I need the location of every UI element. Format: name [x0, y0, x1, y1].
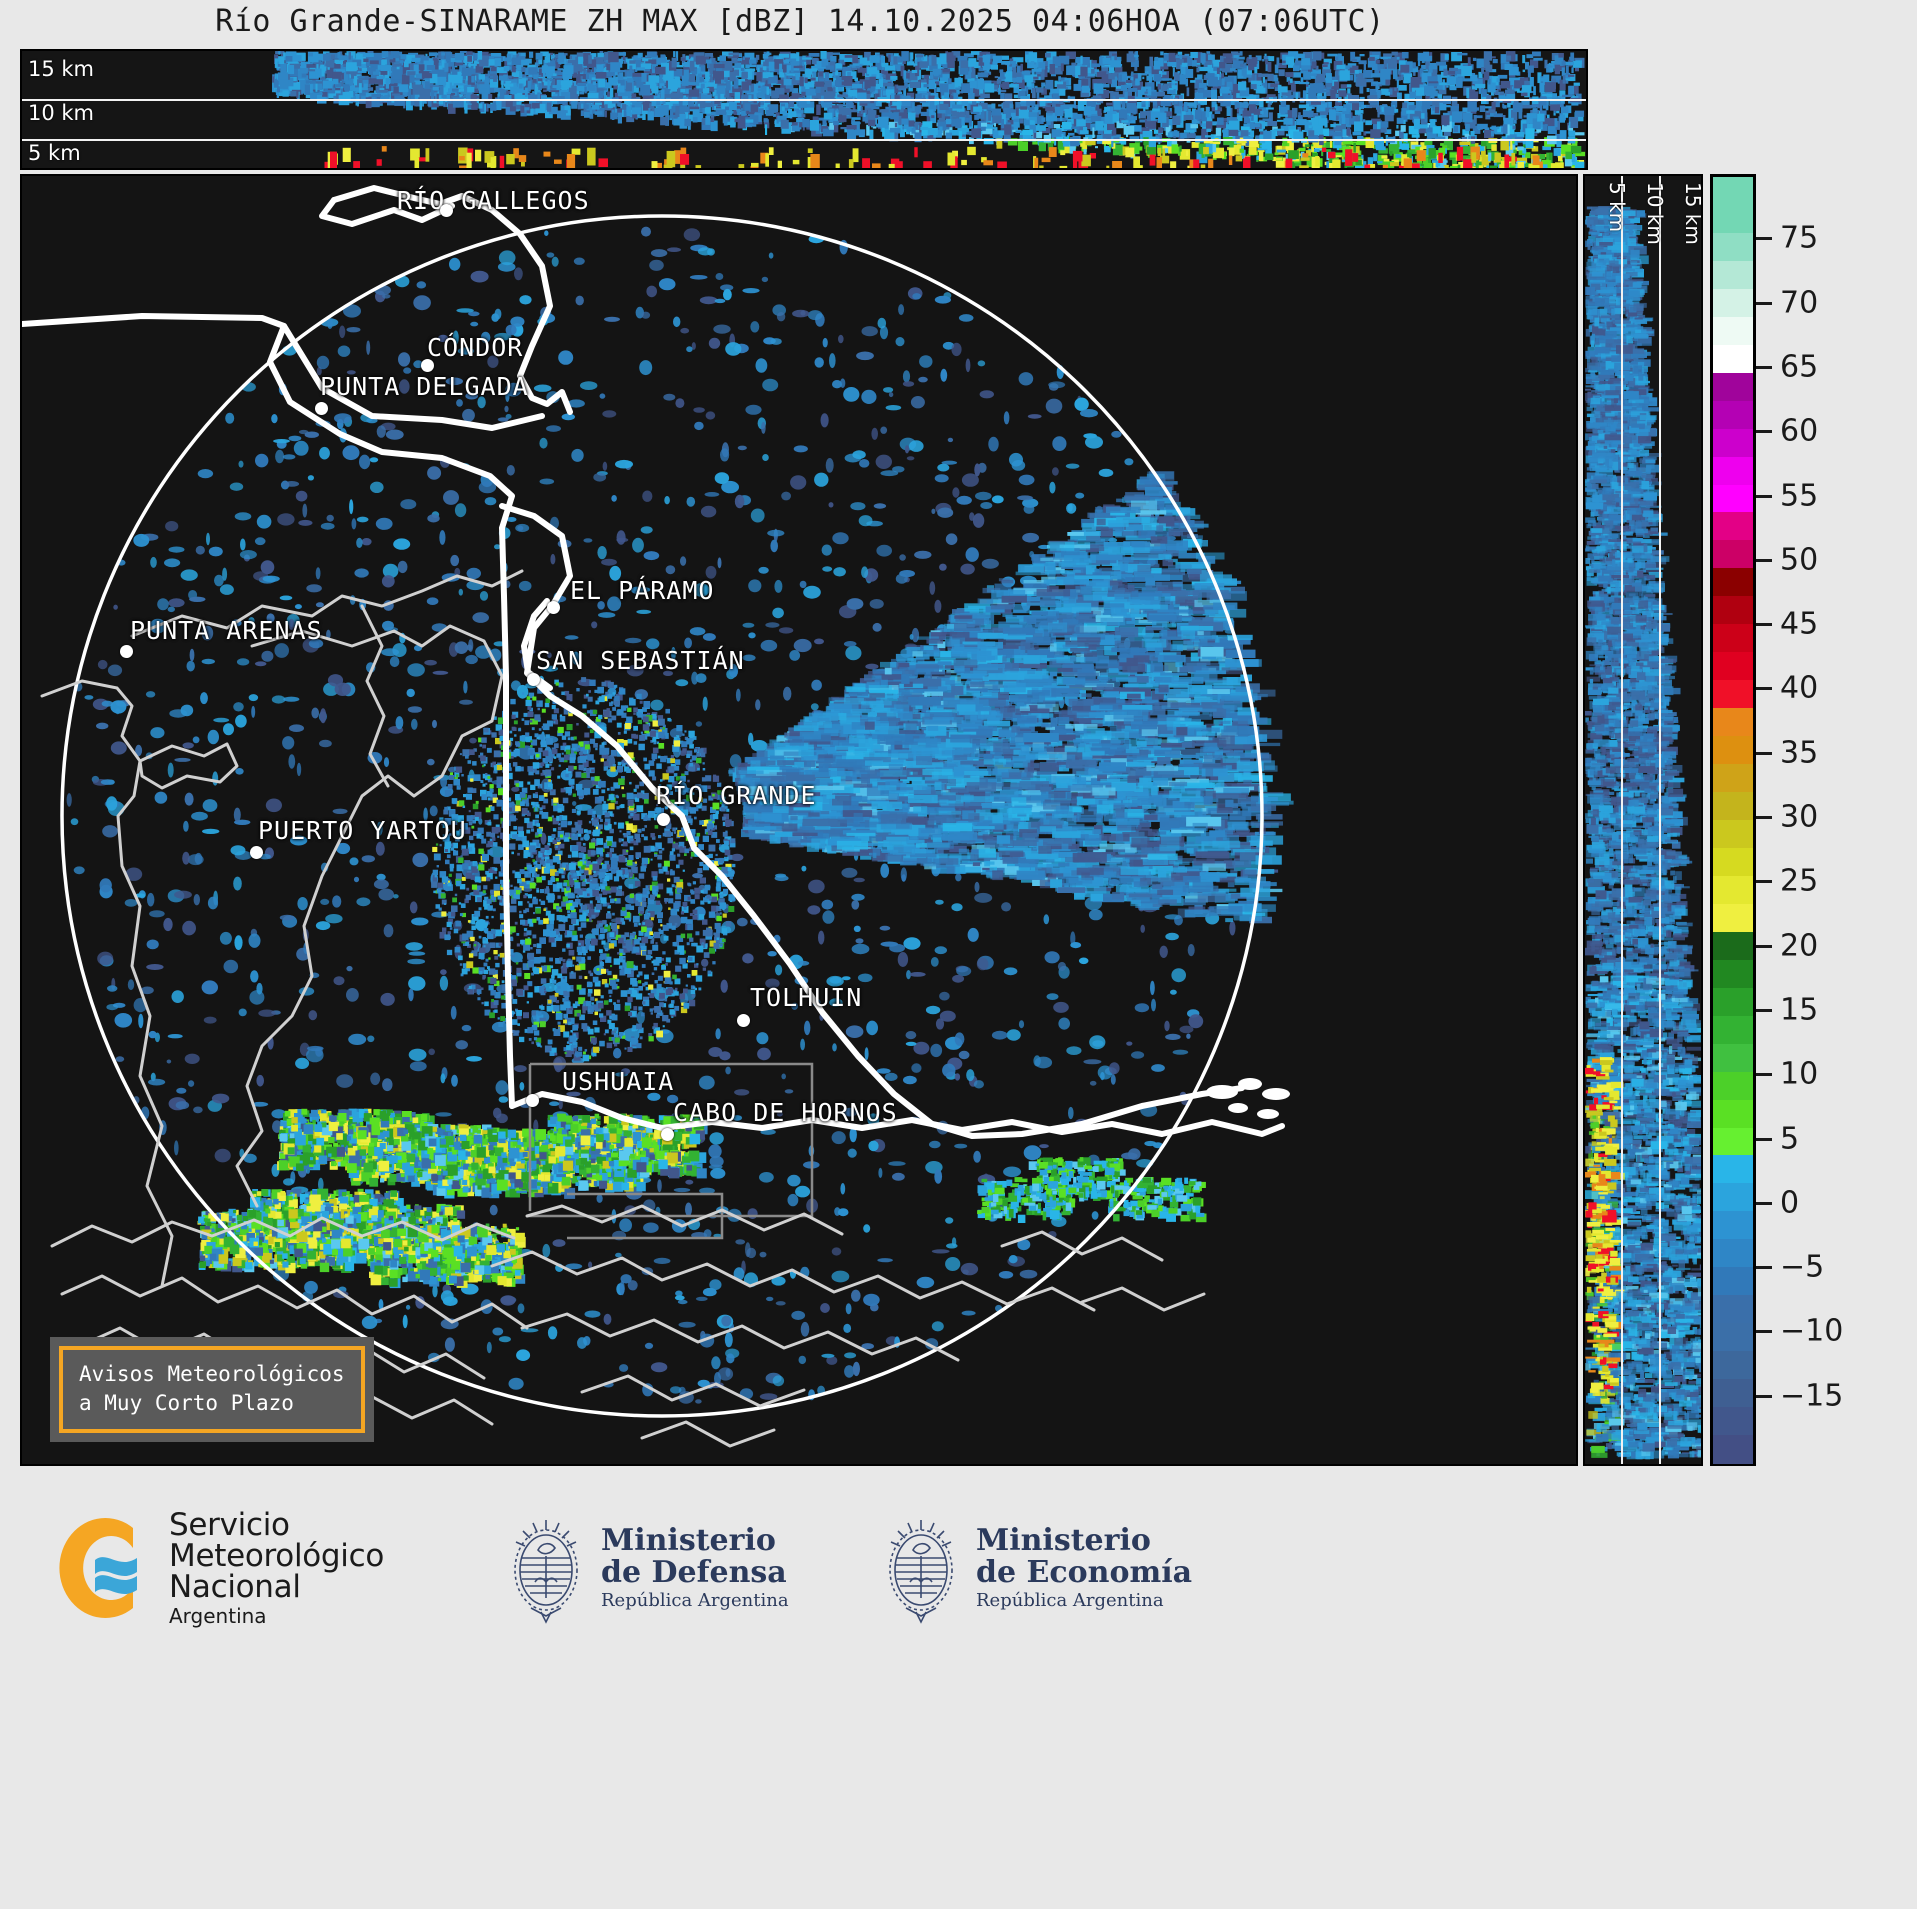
colorbar-tick-label: 30 — [1780, 800, 1818, 835]
colorbar-segment — [1713, 1323, 1753, 1352]
colorbar-tick-label: 20 — [1780, 928, 1818, 963]
footer-logos: Servicio Meteorológico Nacional Argentin… — [0, 1472, 1917, 1909]
colorbar-tick-label: 75 — [1780, 221, 1818, 256]
colorbar-segment — [1713, 177, 1753, 206]
city-marker-punta-delgada[interactable] — [315, 402, 328, 415]
colorbar-segment — [1713, 680, 1753, 709]
colorbar-segment — [1713, 373, 1753, 402]
colorbar-segment — [1713, 540, 1753, 569]
colorbar-segment — [1713, 736, 1753, 765]
right-km-label-15: 15 km — [1681, 182, 1703, 245]
colorbar-tick-mark — [1756, 752, 1772, 755]
economia-line-2: de Economía — [976, 1557, 1192, 1589]
colorbar-tick-mark — [1756, 1330, 1772, 1333]
economia-line-1: Ministerio — [976, 1525, 1192, 1557]
city-marker-tolhuin[interactable] — [737, 1014, 750, 1027]
colorbar-tick-label: 50 — [1780, 542, 1818, 577]
colorbar — [1710, 174, 1756, 1466]
colorbar-tick-label: −5 — [1780, 1250, 1824, 1285]
colorbar-tick-mark — [1756, 1009, 1772, 1012]
colorbar-segment — [1713, 429, 1753, 458]
colorbar-tick-mark — [1756, 945, 1772, 948]
colorbar-segment — [1713, 261, 1753, 290]
colorbar-segment — [1713, 1295, 1753, 1324]
colorbar-tick-mark — [1756, 1138, 1772, 1141]
avisos-badge[interactable]: Avisos Meteorológicos a Muy Corto Plazo — [50, 1337, 374, 1442]
colorbar-segment — [1713, 401, 1753, 430]
city-marker-el-p-ramo[interactable] — [547, 601, 560, 614]
colorbar-tick-mark — [1756, 430, 1772, 433]
colorbar-tick-label: 40 — [1780, 671, 1818, 706]
smn-line-4: Argentina — [169, 1606, 384, 1626]
colorbar-segment — [1713, 1407, 1753, 1436]
colorbar-segment — [1713, 1267, 1753, 1296]
colorbar-tick-mark — [1756, 495, 1772, 498]
right-km-label-5: 5 km — [1605, 182, 1629, 232]
colorbar-tick-mark — [1756, 1266, 1772, 1269]
colorbar-segment — [1713, 233, 1753, 262]
vgridline-5km — [1621, 176, 1623, 1464]
page-title: Río Grande-SINARAME ZH MAX [dBZ] 14.10.2… — [0, 4, 1600, 39]
city-marker-san-sebasti-n[interactable] — [527, 673, 540, 686]
colorbar-segment — [1713, 848, 1753, 877]
defensa-line-1: Ministerio — [601, 1525, 789, 1557]
city-marker-puerto-yartou[interactable] — [250, 846, 263, 859]
logo-ministerio-economia: Ministerio de Economía República Argenti… — [880, 1512, 1192, 1624]
colorbar-segment — [1713, 596, 1753, 625]
top-km-label-5: 5 km — [28, 141, 81, 165]
gridline-10km — [22, 99, 1586, 101]
colorbar-segment — [1713, 457, 1753, 486]
colorbar-segment — [1713, 1435, 1753, 1464]
city-marker-cabo-de-hornos[interactable] — [661, 1128, 674, 1141]
top-km-label-10: 10 km — [28, 101, 94, 125]
economia-line-3: República Argentina — [976, 1592, 1192, 1611]
top-km-label-15: 15 km — [28, 57, 94, 81]
colorbar-tick-label: 5 — [1780, 1121, 1799, 1156]
defensa-text: Ministerio de Defensa República Argentin… — [601, 1525, 789, 1611]
colorbar-tick-label: 10 — [1780, 1057, 1818, 1092]
colorbar-segment — [1713, 205, 1753, 234]
colorbar-segment — [1713, 904, 1753, 933]
city-marker-r-o-grande[interactable] — [657, 813, 670, 826]
colorbar-segment — [1713, 512, 1753, 541]
smn-line-2: Meteorológico — [169, 1541, 384, 1572]
colorbar-tick-label: 55 — [1780, 478, 1818, 513]
colorbar-segment — [1713, 1183, 1753, 1212]
colorbar-segment — [1713, 1351, 1753, 1380]
gridline-5km — [22, 139, 1586, 141]
colorbar-tick-label: −15 — [1780, 1378, 1843, 1413]
colorbar-tick-mark — [1756, 880, 1772, 883]
colorbar-segment — [1713, 876, 1753, 905]
colorbar-segment — [1713, 289, 1753, 318]
colorbar-tick-mark — [1756, 302, 1772, 305]
right-km-label-10: 10 km — [1643, 182, 1667, 245]
colorbar-segment — [1713, 1016, 1753, 1045]
argentina-coat-of-arms-icon — [880, 1512, 962, 1624]
right-cross-section-panel: 5 km 10 km 15 km — [1583, 174, 1703, 1466]
colorbar-tick-mark — [1756, 623, 1772, 626]
colorbar-tick-label: 15 — [1780, 992, 1818, 1027]
top-cross-section-panel: 15 km 10 km 5 km — [20, 49, 1588, 170]
economia-text: Ministerio de Economía República Argenti… — [976, 1525, 1192, 1611]
colorbar-segment — [1713, 820, 1753, 849]
colorbar-tick-mark — [1756, 1395, 1772, 1398]
colorbar-segment — [1713, 568, 1753, 597]
city-marker-c-ndor[interactable] — [421, 359, 434, 372]
colorbar-tick-mark — [1756, 559, 1772, 562]
colorbar-segment — [1713, 792, 1753, 821]
colorbar-segment — [1713, 988, 1753, 1017]
avisos-line-1: Avisos Meteorológicos — [79, 1360, 345, 1388]
colorbar-segment — [1713, 345, 1753, 374]
argentina-coat-of-arms-icon — [505, 1512, 587, 1624]
smn-logo-text: Servicio Meteorológico Nacional Argentin… — [169, 1510, 384, 1626]
colorbar-tick-mark — [1756, 687, 1772, 690]
radar-map-canvas — [22, 176, 1576, 1464]
colorbar-tick-label: 60 — [1780, 414, 1818, 449]
colorbar-tick-label: 45 — [1780, 607, 1818, 642]
colorbar-segment — [1713, 1128, 1753, 1157]
avisos-line-2: a Muy Corto Plazo — [79, 1389, 345, 1417]
colorbar-tick-mark — [1756, 816, 1772, 819]
smn-logo-icon — [55, 1514, 155, 1622]
colorbar-tick-mark — [1756, 1202, 1772, 1205]
colorbar-tick-label: 25 — [1780, 864, 1818, 899]
colorbar-segment — [1713, 624, 1753, 653]
vgridline-10km — [1659, 176, 1661, 1464]
top-cross-section-echoes — [22, 51, 1586, 168]
city-marker-punta-arenas[interactable] — [120, 645, 133, 658]
city-marker-ushuaia[interactable] — [526, 1094, 539, 1107]
colorbar-tick-mark — [1756, 366, 1772, 369]
colorbar-tick-label: −10 — [1780, 1314, 1843, 1349]
avisos-badge-inner: Avisos Meteorológicos a Muy Corto Plazo — [59, 1346, 365, 1433]
colorbar-segment — [1713, 764, 1753, 793]
colorbar-segment — [1713, 1155, 1753, 1184]
logo-ministerio-defensa: Ministerio de Defensa República Argentin… — [505, 1512, 789, 1624]
colorbar-tick-mark — [1756, 1073, 1772, 1076]
colorbar-tick-label: 70 — [1780, 285, 1818, 320]
colorbar-segment — [1713, 960, 1753, 989]
colorbar-segment — [1713, 1379, 1753, 1408]
defensa-line-2: de Defensa — [601, 1557, 789, 1589]
smn-line-3: Nacional — [169, 1572, 384, 1603]
colorbar-tick-label: 0 — [1780, 1185, 1799, 1220]
colorbar-tick-label: 65 — [1780, 349, 1818, 384]
colorbar-segment — [1713, 1100, 1753, 1129]
city-marker-r-o-gallegos[interactable] — [440, 204, 453, 217]
right-cross-section-echoes — [1585, 176, 1701, 1464]
colorbar-tick-mark — [1756, 237, 1772, 240]
colorbar-ticks: 757065605550454035302520151050−5−10−15 — [1756, 174, 1906, 1466]
colorbar-segment — [1713, 485, 1753, 514]
colorbar-segment — [1713, 1239, 1753, 1268]
logo-smn: Servicio Meteorológico Nacional Argentin… — [55, 1510, 384, 1626]
colorbar-segment — [1713, 708, 1753, 737]
colorbar-segment — [1713, 1072, 1753, 1101]
defensa-line-3: República Argentina — [601, 1592, 789, 1611]
colorbar-segment — [1713, 932, 1753, 961]
colorbar-tick-label: 35 — [1780, 735, 1818, 770]
colorbar-segment — [1713, 652, 1753, 681]
colorbar-segment — [1713, 317, 1753, 346]
colorbar-segment — [1713, 1211, 1753, 1240]
colorbar-segment — [1713, 1044, 1753, 1073]
smn-line-1: Servicio — [169, 1510, 384, 1541]
radar-ppi-panel[interactable]: RÍO GALLEGOSCÓNDORPUNTA DELGADAEL PÁRAMO… — [20, 174, 1578, 1466]
